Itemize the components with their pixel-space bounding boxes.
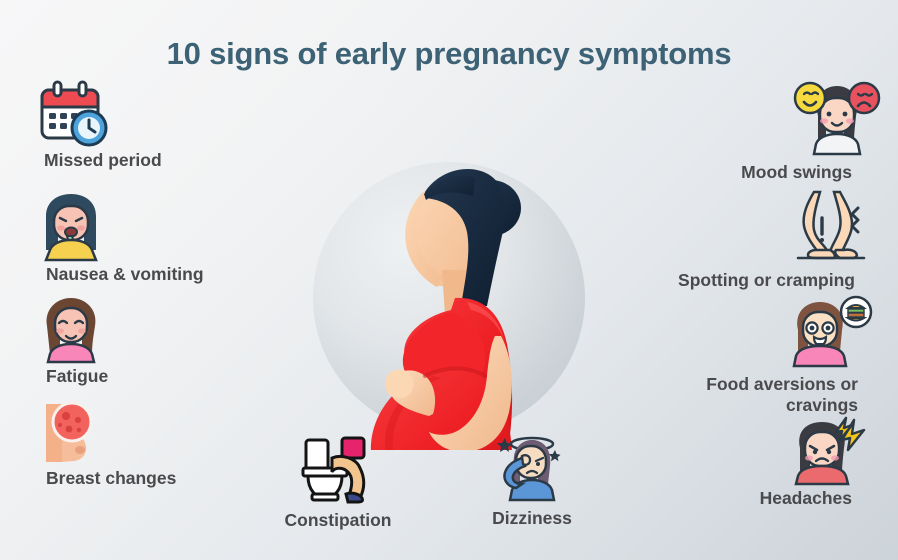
symptom-label: Dizziness xyxy=(472,508,592,529)
breast-changes-icon xyxy=(38,400,102,464)
page-title: 10 signs of early pregnancy symptoms xyxy=(0,36,898,72)
symptom-label: Spotting or cramping xyxy=(580,270,855,291)
infographic-canvas: 10 signs of early pregnancy symptoms xyxy=(0,0,898,560)
vomiting-person-icon xyxy=(40,192,102,260)
cramping-legs-icon xyxy=(790,190,870,262)
symptom-label: Constipation xyxy=(268,510,408,531)
symptom-label: Missed period xyxy=(44,150,284,171)
symptom-label: Nausea & vomiting xyxy=(46,264,316,285)
calendar-clock-icon xyxy=(34,80,116,150)
symptom-label: Breast changes xyxy=(46,468,276,489)
toilet-icon xyxy=(298,432,380,504)
pregnant-woman-figure xyxy=(305,100,595,450)
tired-woman-icon xyxy=(40,296,102,362)
food-craving-icon xyxy=(788,296,876,368)
headache-person-icon xyxy=(792,416,876,486)
mood-swings-icon xyxy=(792,78,882,156)
symptom-label: Headaches xyxy=(602,488,852,509)
symptom-label: Mood swings xyxy=(602,162,852,183)
dizzy-person-icon xyxy=(492,430,568,502)
symptom-label: Food aversions or cravings xyxy=(588,374,858,416)
hero-illustration xyxy=(313,162,585,434)
symptom-label: Fatigue xyxy=(46,366,246,387)
